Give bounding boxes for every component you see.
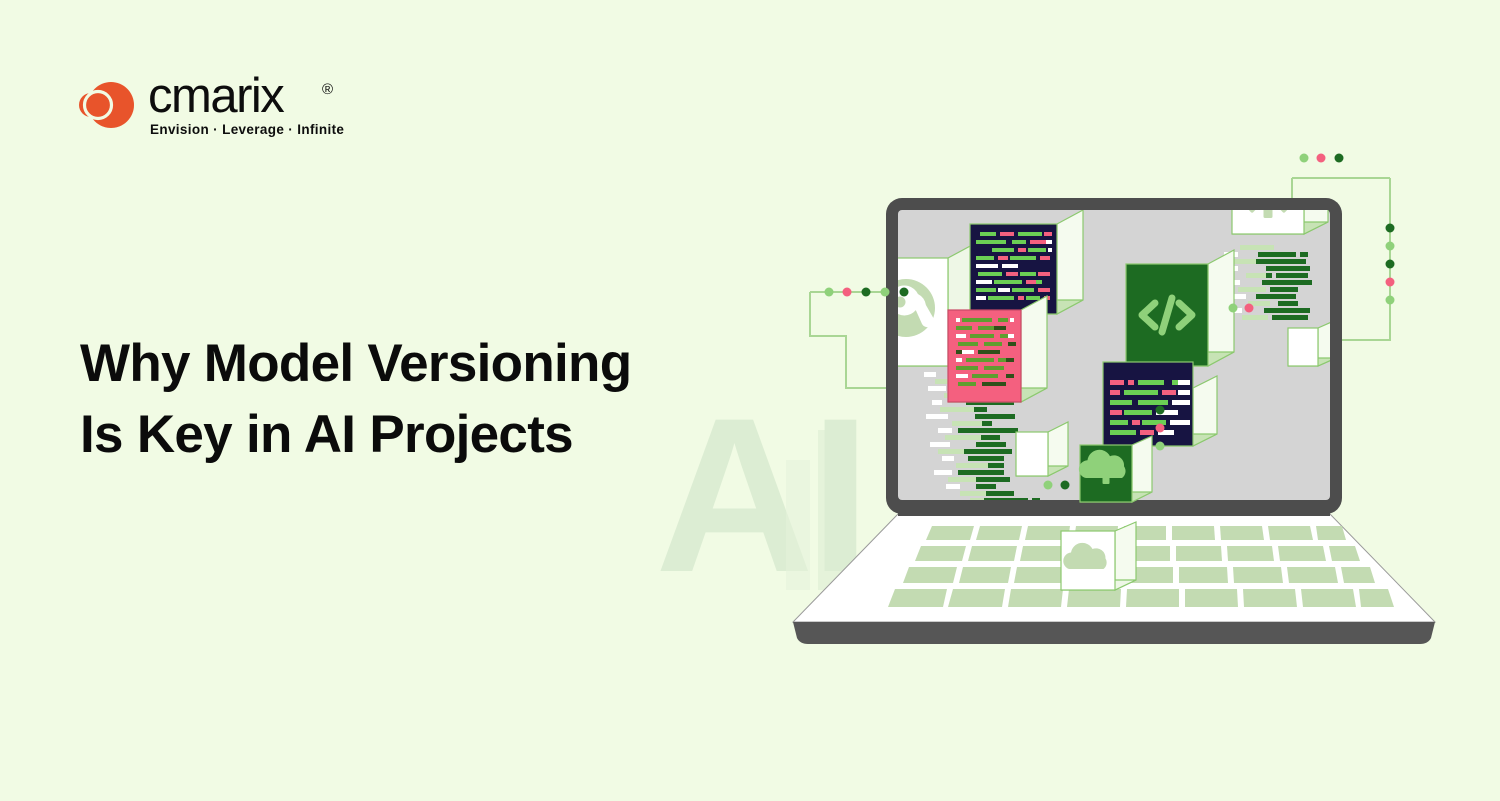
cmarix-tagline: Envision · Leverage · Infinite xyxy=(150,122,344,137)
gear-card xyxy=(1232,140,1328,234)
blog-banner: cmarix ® Envision · Leverage · Infinite … xyxy=(0,0,1500,801)
page-title-line-1: Why Model Versioning xyxy=(80,328,780,399)
cloud-card xyxy=(1061,522,1136,590)
terminal-card-top xyxy=(970,210,1083,314)
cmarix-logo-mark xyxy=(78,76,136,134)
background-shapes xyxy=(786,430,854,590)
cmarix-logo[interactable]: cmarix ® Envision · Leverage · Infinite xyxy=(78,74,338,140)
lower-rail-dots xyxy=(1156,406,1165,451)
pink-code-card xyxy=(948,296,1047,402)
page-title: Why Model Versioning Is Key in AI Projec… xyxy=(80,328,780,470)
cmarix-wordmark: cmarix xyxy=(148,72,283,121)
page-title-line-2: Is Key in AI Projects xyxy=(80,399,780,470)
laptop-ai-devops-illustration xyxy=(780,140,1480,660)
code-brackets-card xyxy=(1126,250,1234,366)
registered-mark: ® xyxy=(322,82,333,97)
top-rail-dots xyxy=(1300,154,1344,163)
cloud-upload-card xyxy=(1079,436,1152,502)
